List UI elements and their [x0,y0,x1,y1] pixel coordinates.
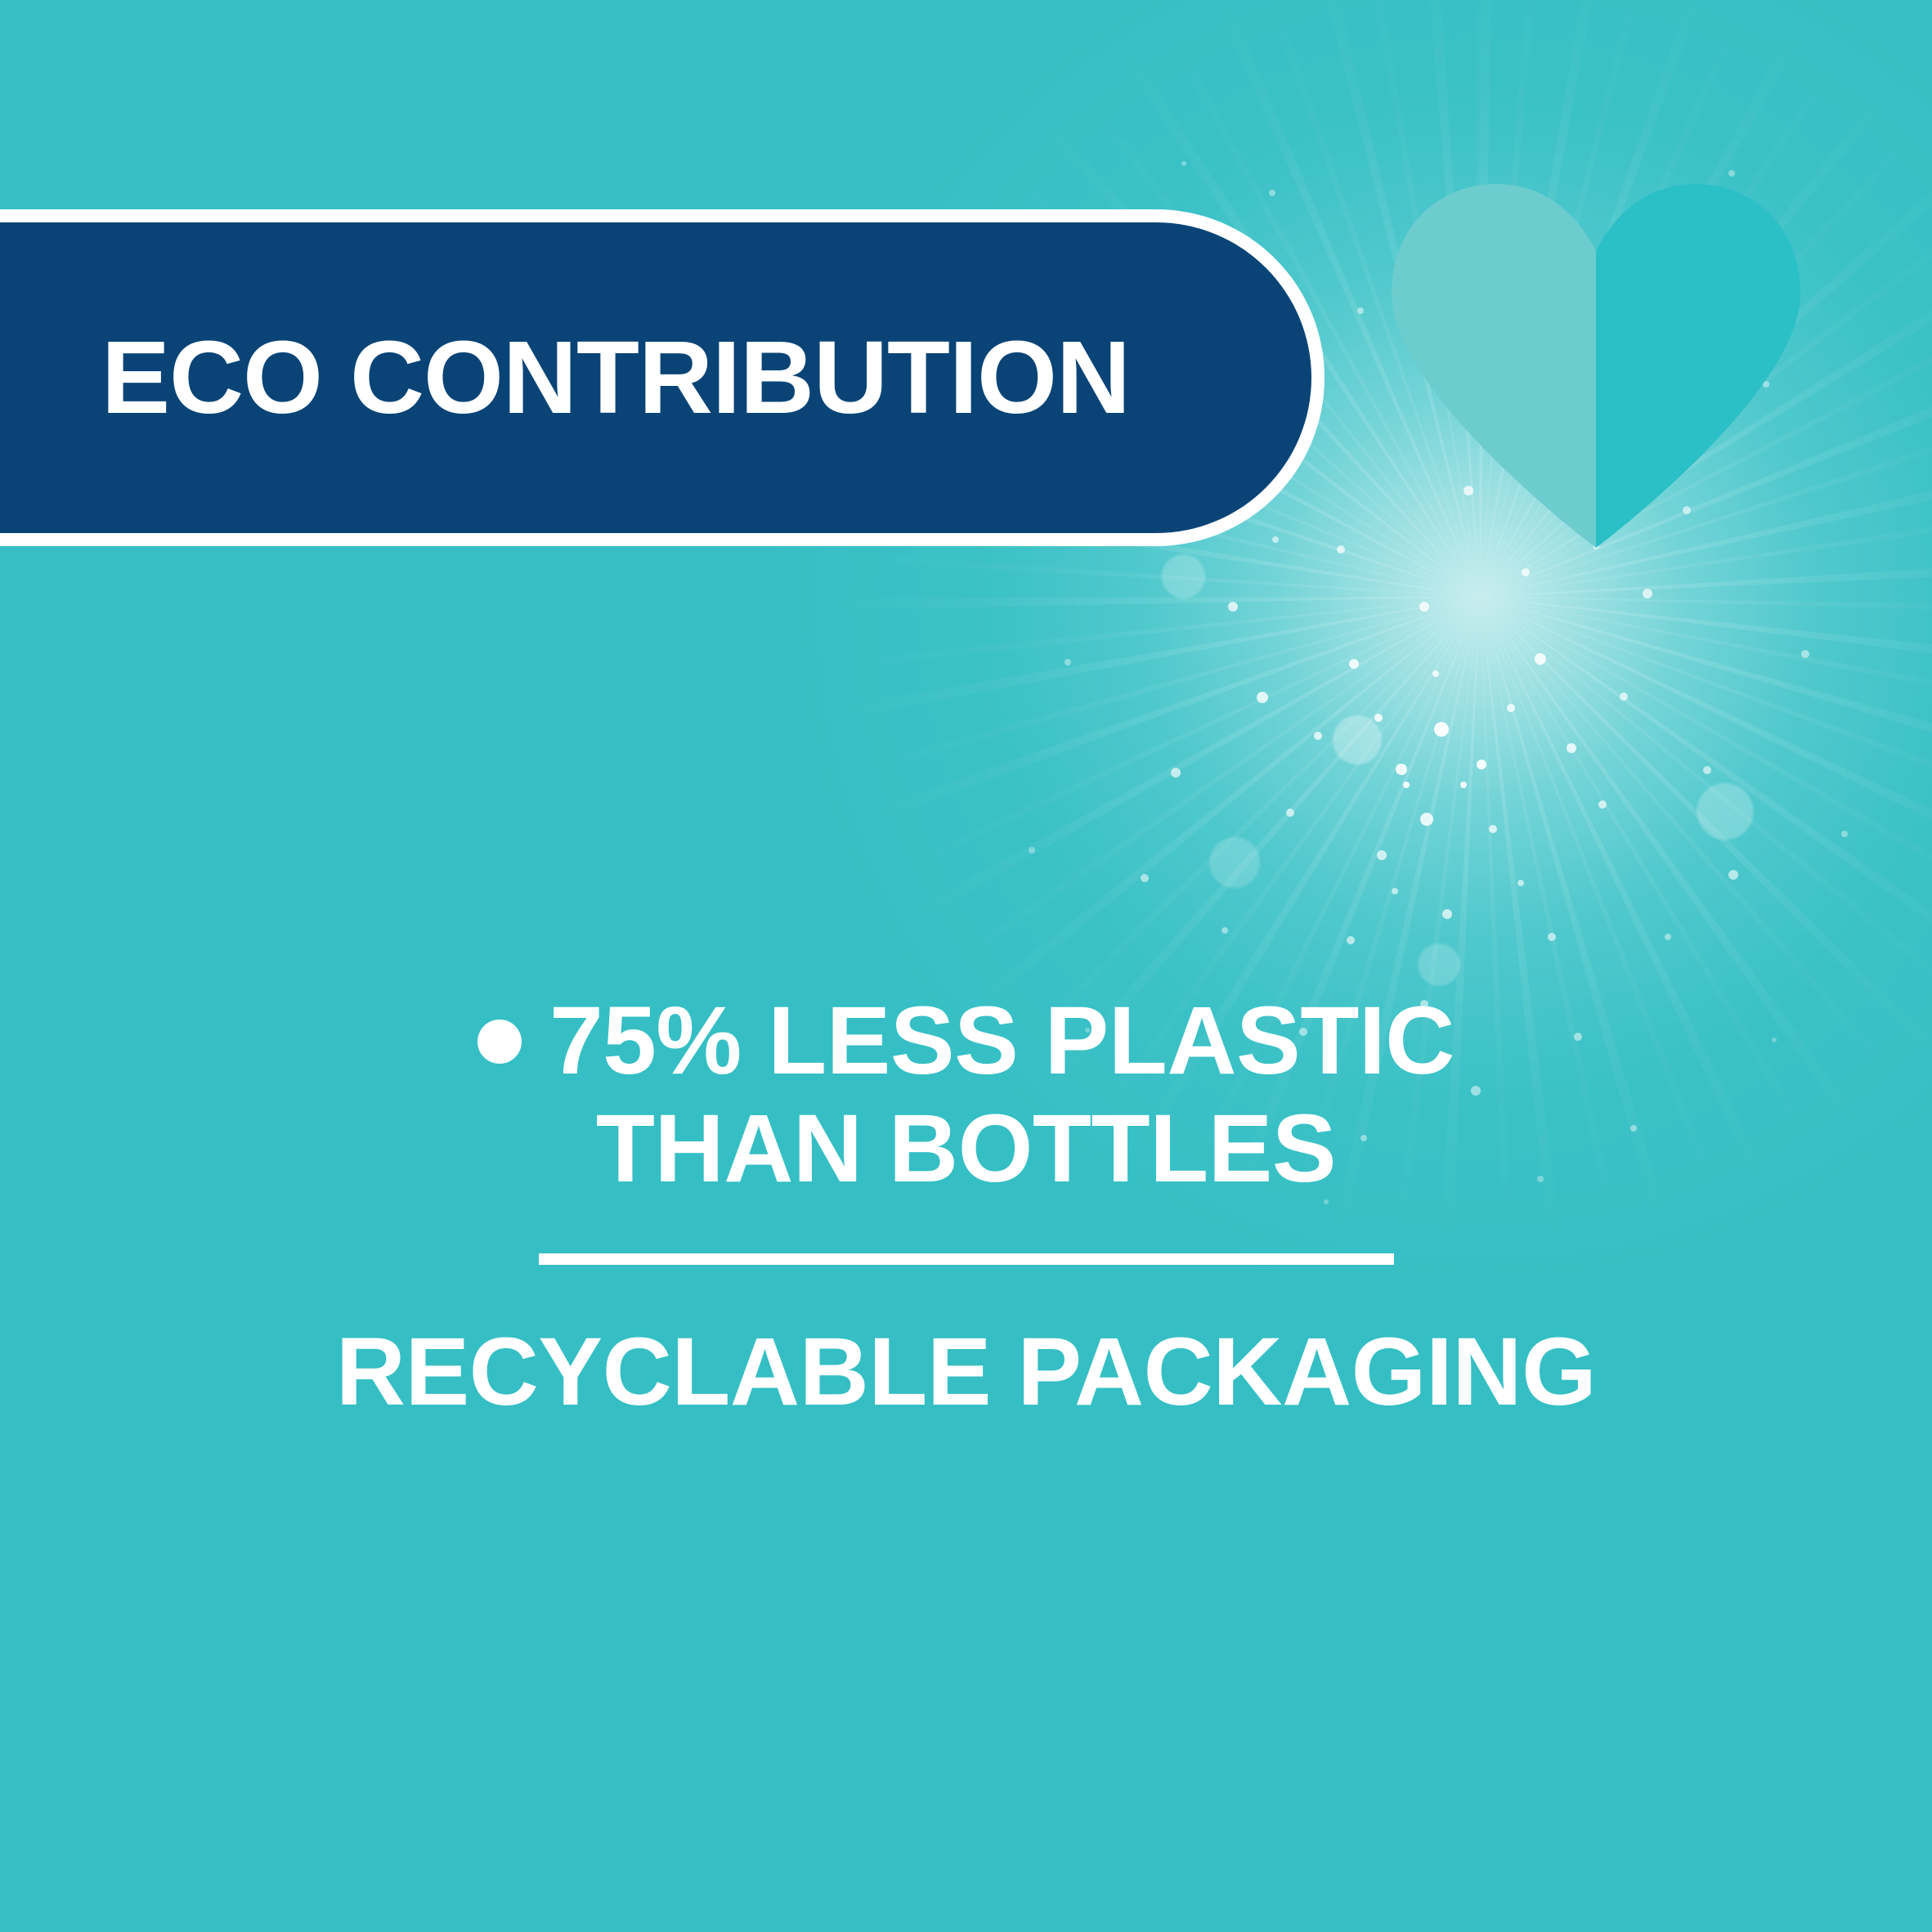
eco-contribution-banner: ECO CONTRIBUTION [0,209,1325,546]
primary-claim-text: 75% LESS PLASTIC THAN BOTTLES [549,987,1455,1203]
heart-icon [1382,176,1807,552]
heart-logo [1382,176,1807,552]
claims-block: 75% LESS PLASTIC THAN BOTTLES RECYCLABLE… [0,879,1932,1420]
eco-contribution-panel: ECO CONTRIBUTION 75% LESS PLASTIC THAN B… [0,0,1932,1932]
claims-divider [539,1253,1394,1265]
banner-title: ECO CONTRIBUTION [101,326,1130,429]
primary-claim: 75% LESS PLASTIC THAN BOTTLES [0,879,1932,1203]
heart-right-half [1596,184,1800,548]
heart-left-half [1392,184,1596,548]
secondary-claim-text: RECYCLABLE PACKAGING [0,1324,1932,1420]
bullet-dot-icon [477,1020,522,1064]
